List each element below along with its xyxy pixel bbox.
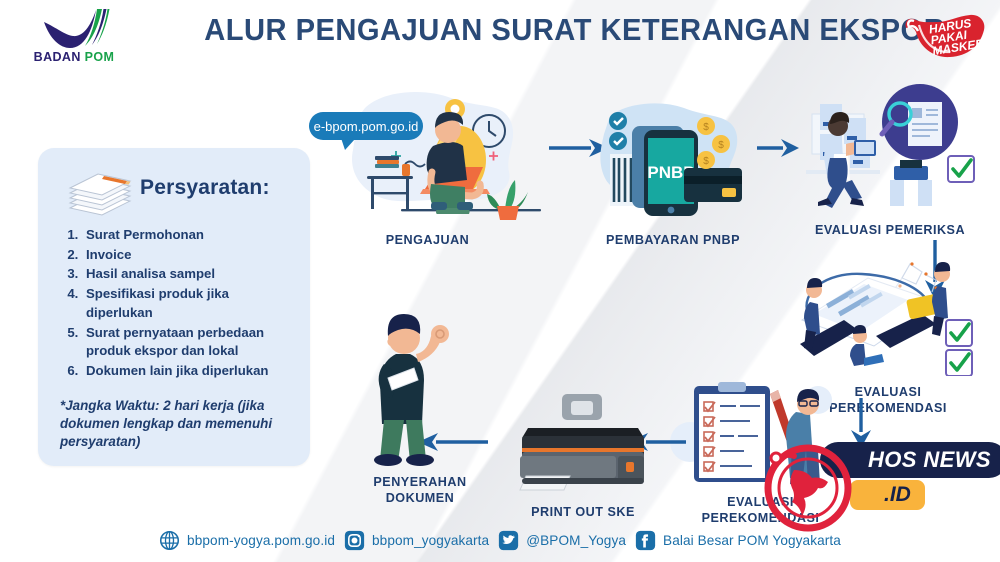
face-mask-icon: HARUS PAKAI MASKER xyxy=(900,2,992,64)
page-title: ALUR PENGAJUAN SURAT KETERANGAN EKSPOR xyxy=(204,12,806,48)
requirement-item: Hasil analisa sampel xyxy=(82,265,296,284)
check-box-group xyxy=(946,320,972,376)
flow-step-pengajuan: e-bpom.pom.go.id PENGAJUAN xyxy=(305,84,550,249)
svg-text:$: $ xyxy=(703,122,709,133)
logo-text-badan: BADAN xyxy=(34,50,85,64)
requirement-item: Dokumen lain jika diperlukan xyxy=(82,362,296,381)
flow-step-evaluasi-pemeriksa: EVALUASI PEMERIKSA xyxy=(790,84,990,239)
svg-text:$: $ xyxy=(703,156,709,167)
badan-pom-logo: BADAN POM xyxy=(22,6,126,68)
logo-text-pom: POM xyxy=(85,50,115,64)
mask-reminder-badge: HARUS PAKAI MASKER xyxy=(900,2,992,64)
footer-label: bbpom_yogyakarta xyxy=(372,533,489,548)
infographic-poster: BADAN POM ALUR PENGAJUAN SURAT KETERANGA… xyxy=(0,0,1000,562)
step-caption: PENGAJUAN xyxy=(305,233,550,249)
stack-of-documents-icon xyxy=(64,170,136,216)
watermark-domain: .ID xyxy=(850,480,925,510)
badan-pom-swoosh-icon xyxy=(40,6,110,50)
step-caption-line1: PENYERAHAN xyxy=(373,475,466,489)
step-caption: EVALUASI PEMERIKSA xyxy=(790,223,990,239)
footer-item-website[interactable]: bbpom-yogya.pom.go.id xyxy=(159,530,335,551)
person-with-laptop-illustration: e-bpom.pom.go.id xyxy=(305,84,550,224)
footer-item-twitter[interactable]: @BPOM_Yogya xyxy=(498,530,626,551)
footer-social-bar: bbpom-yogya.pom.go.id bbpom_yogyakarta @… xyxy=(0,518,1000,562)
requirement-item: Surat Permohonan xyxy=(82,226,296,245)
flow-step-penyerahan-dokumen: PENYERAHAN DOKUMEN xyxy=(340,308,500,506)
svg-text:$: $ xyxy=(718,140,724,151)
step-caption: PENYERAHAN DOKUMEN xyxy=(340,475,500,506)
step-caption-line1: EVALUASI xyxy=(855,385,922,399)
step-caption: PEMBAYARAN PNBP xyxy=(588,233,758,249)
processing-time-note: *Jangka Waktu: 2 hari kerja (jika dokume… xyxy=(60,397,292,451)
requirement-item: Surat pernyataan perbedaan produk ekspor… xyxy=(82,324,296,361)
facebook-icon xyxy=(635,530,656,551)
footer-label: @BPOM_Yogya xyxy=(526,533,626,548)
requirements-heading: Persyaratan: xyxy=(140,176,270,200)
footer-label: Balai Besar POM Yogyakarta xyxy=(663,533,841,548)
document-review-illustration xyxy=(790,84,990,214)
requirement-item: Spesifikasi produk jika diperlukan xyxy=(82,285,296,322)
footer-item-facebook[interactable]: Balai Besar POM Yogyakarta xyxy=(635,530,841,551)
flow-step-print-out-ske: PRINT OUT SKE xyxy=(498,394,668,521)
flow-step-pembayaran-pnbp: PNBP $ $ $ PEMBAYARAN PNBP xyxy=(588,96,758,249)
watermark-hos-news: HOS NEWS .ID xyxy=(760,436,1000,520)
check-box-group xyxy=(948,156,974,182)
footer-label: bbpom-yogya.pom.go.id xyxy=(187,533,335,548)
footer-item-instagram[interactable]: bbpom_yogyakarta xyxy=(344,530,489,551)
url-bubble-text: e-bpom.pom.go.id xyxy=(314,119,419,134)
magnifier-data-analysis-illustration xyxy=(790,258,986,376)
requirements-header: Persyaratan: xyxy=(38,166,310,222)
logo-text: BADAN POM xyxy=(22,50,126,64)
person-holding-document-illustration xyxy=(340,308,500,466)
step-caption-line2: DOKUMEN xyxy=(386,491,455,505)
inkjet-printer-illustration xyxy=(498,394,668,496)
instagram-icon xyxy=(344,530,365,551)
mobile-payment-illustration: PNBP $ $ $ xyxy=(588,96,758,224)
twitter-icon xyxy=(498,530,519,551)
requirement-item: Invoice xyxy=(82,246,296,265)
requirements-list: Surat Permohonan Invoice Hasil analisa s… xyxy=(38,226,310,381)
requirements-card: Persyaratan: Surat Permohonan Invoice Ha… xyxy=(38,148,310,466)
globe-icon xyxy=(159,530,180,551)
